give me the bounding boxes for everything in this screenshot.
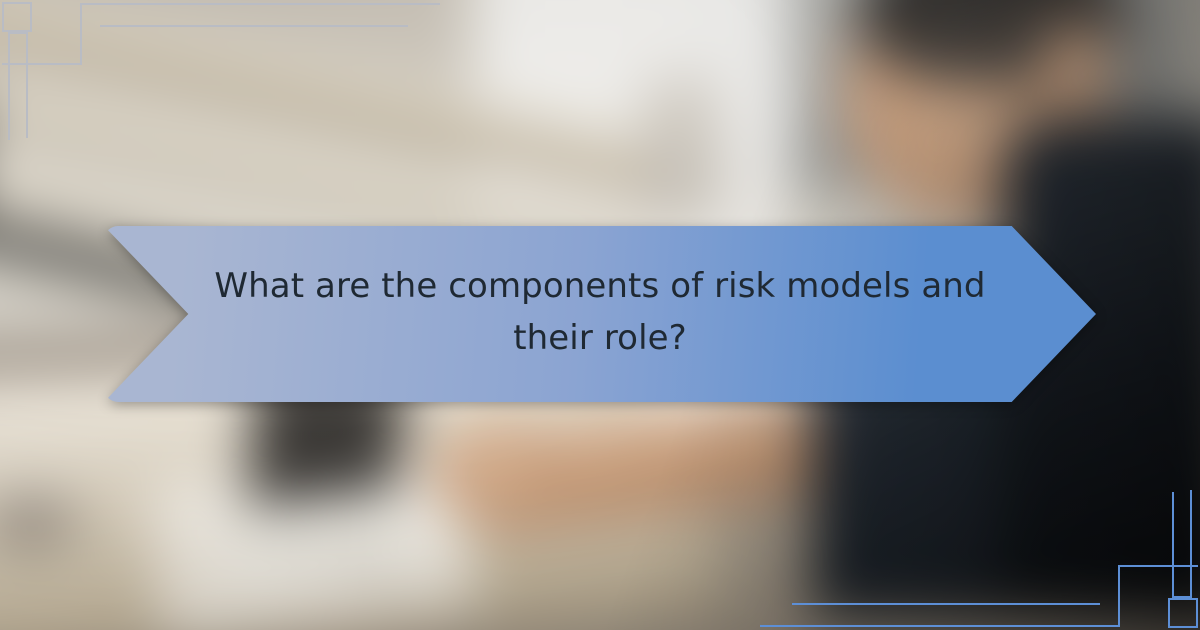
ornament-horizontal-rule (760, 625, 1120, 627)
ornament-square-icon (1168, 598, 1198, 628)
ornament-horizontal-rule (100, 25, 408, 27)
title-ribbon-banner: What are the components of risk models a… (104, 226, 1096, 402)
ornament-vertical-rule (8, 32, 10, 140)
corner-ornament-top-left (0, 0, 200, 175)
ornament-horizontal-rule (80, 3, 440, 5)
ornament-vertical-cap (1172, 596, 1192, 598)
ornament-horizontal-rule (792, 603, 1100, 605)
ornament-vertical-rule (1190, 490, 1192, 598)
ornament-vertical-rule (26, 33, 28, 138)
ornament-corner-vertical (80, 3, 82, 65)
ornament-vertical-rule (1172, 492, 1174, 597)
corner-ornament-bottom-right (1000, 455, 1200, 630)
page-title: What are the components of risk models a… (200, 261, 1000, 366)
ornament-corner-vertical (1118, 565, 1120, 627)
background-person-ear (1043, 24, 1109, 109)
background-object (0, 498, 74, 545)
ornament-corner-horizontal (1118, 565, 1198, 567)
ornament-square-icon (2, 2, 32, 32)
background-bottle (642, 77, 718, 215)
featured-image-card: What are the components of risk models a… (0, 0, 1200, 630)
ornament-corner-horizontal (2, 63, 82, 65)
ornament-vertical-cap (8, 32, 28, 34)
